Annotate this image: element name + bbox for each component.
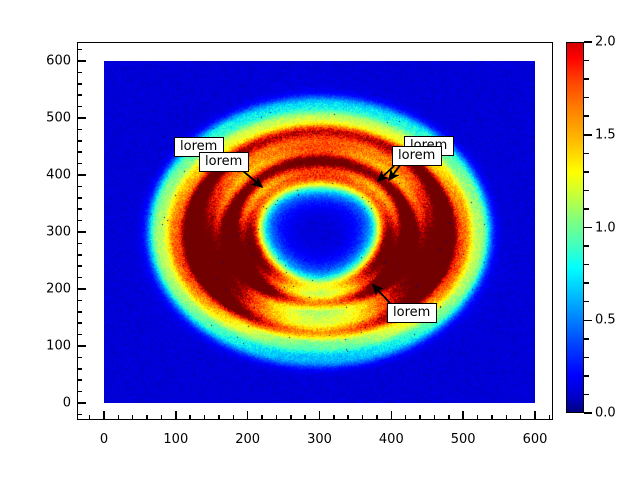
x-tick-major [462, 411, 464, 420]
colorbar-gradient [566, 42, 584, 413]
colorbar-tick-minor [584, 282, 589, 284]
x-tick-major [534, 411, 536, 420]
x-tick-minor [405, 415, 407, 420]
y-tick-minor [77, 311, 82, 313]
colorbar-tick-major [584, 134, 592, 136]
colorbar [566, 42, 584, 413]
colorbar-tick-minor [584, 338, 589, 340]
x-tick-label: 0 [100, 432, 108, 447]
y-tick-minor [77, 379, 82, 381]
colorbar-tick-minor [584, 375, 589, 377]
x-tick-minor [89, 415, 91, 420]
colorbar-tick-minor [584, 153, 589, 155]
annotation-label-anno-right-front[interactable]: lorem [392, 146, 442, 166]
y-tick-minor [77, 140, 82, 142]
x-tick-minor [506, 415, 508, 420]
x-tick-minor [333, 415, 335, 420]
x-tick-label: 600 [523, 432, 548, 447]
colorbar-tick-minor [584, 190, 589, 192]
y-tick-major [77, 60, 86, 62]
colorbar-tick-minor [584, 394, 589, 396]
colorbar-tick-minor [584, 301, 589, 303]
colorbar-tick-label: 0.5 [595, 313, 616, 328]
x-tick-minor [233, 415, 235, 420]
y-tick-minor [77, 300, 82, 302]
colorbar-tick-minor [584, 60, 589, 62]
x-tick-minor [549, 415, 551, 420]
x-tick-minor [347, 415, 349, 420]
x-tick-minor [477, 415, 479, 420]
colorbar-tick-label: 2.0 [595, 35, 616, 50]
y-tick-minor [77, 49, 82, 51]
y-tick-minor [77, 322, 82, 324]
figure-canvas: 01002003004005006000100200300400500600 0… [0, 0, 640, 480]
x-tick-minor [261, 415, 263, 420]
y-tick-minor [77, 129, 82, 131]
colorbar-tick-minor [584, 208, 589, 210]
y-tick-minor [77, 265, 82, 267]
x-tick-minor [376, 415, 378, 420]
x-tick-label: 200 [235, 432, 260, 447]
x-tick-minor [362, 415, 364, 420]
y-tick-minor [77, 83, 82, 85]
colorbar-tick-minor [584, 264, 589, 266]
y-tick-label: 500 [39, 111, 71, 126]
colorbar-tick-minor [584, 78, 589, 80]
y-tick-major [77, 402, 86, 404]
x-tick-label: 300 [307, 432, 332, 447]
colorbar-tick-label: 0.0 [595, 406, 616, 421]
x-tick-minor [434, 415, 436, 420]
x-tick-major [391, 411, 393, 420]
y-tick-minor [77, 243, 82, 245]
heatmap-canvas [104, 61, 535, 403]
colorbar-tick-label: 1.5 [595, 127, 616, 142]
x-tick-minor [132, 415, 134, 420]
x-tick-label: 100 [163, 432, 188, 447]
x-tick-minor [419, 415, 421, 420]
x-tick-minor [189, 415, 191, 420]
y-tick-minor [77, 391, 82, 393]
colorbar-tick-major [584, 412, 592, 414]
x-tick-major [103, 411, 105, 420]
y-tick-label: 0 [39, 396, 71, 411]
y-tick-minor [77, 277, 82, 279]
x-tick-minor [218, 415, 220, 420]
x-tick-minor [146, 415, 148, 420]
x-tick-minor [204, 415, 206, 420]
x-tick-major [247, 411, 249, 420]
x-tick-minor [276, 415, 278, 420]
x-tick-minor [491, 415, 493, 420]
heatmap-image [104, 61, 535, 403]
x-tick-label: 500 [451, 432, 476, 447]
y-tick-minor [77, 163, 82, 165]
y-tick-minor [77, 151, 82, 153]
y-tick-major [77, 174, 86, 176]
y-tick-minor [77, 106, 82, 108]
y-tick-major [77, 117, 86, 119]
y-tick-major [77, 345, 86, 347]
x-tick-minor [118, 415, 120, 420]
colorbar-tick-minor [584, 171, 589, 173]
y-tick-major [77, 231, 86, 233]
colorbar-tick-minor [584, 357, 589, 359]
colorbar-tick-label: 1.0 [595, 220, 616, 235]
x-tick-major [319, 411, 321, 420]
annotation-label-anno-bottom[interactable]: lorem [387, 303, 437, 323]
y-tick-minor [77, 94, 82, 96]
y-tick-minor [77, 254, 82, 256]
colorbar-tick-major [584, 41, 592, 43]
y-tick-minor [77, 208, 82, 210]
x-tick-label: 400 [379, 432, 404, 447]
colorbar-tick-major [584, 320, 592, 322]
y-tick-minor [77, 368, 82, 370]
colorbar-tick-minor [584, 245, 589, 247]
colorbar-tick-minor [584, 97, 589, 99]
y-tick-minor [77, 186, 82, 188]
x-tick-minor [448, 415, 450, 420]
y-tick-label: 200 [39, 282, 71, 297]
x-tick-minor [290, 415, 292, 420]
x-tick-minor [304, 415, 306, 420]
y-tick-minor [77, 72, 82, 74]
y-tick-minor [77, 414, 82, 416]
y-tick-label: 400 [39, 168, 71, 183]
x-tick-major [175, 411, 177, 420]
y-tick-minor [77, 357, 82, 359]
y-tick-minor [77, 197, 82, 199]
colorbar-tick-major [584, 227, 592, 229]
y-tick-minor [77, 220, 82, 222]
colorbar-tick-minor [584, 115, 589, 117]
y-tick-label: 300 [39, 225, 71, 240]
y-tick-major [77, 288, 86, 290]
y-tick-label: 600 [39, 54, 71, 69]
y-tick-label: 100 [39, 339, 71, 354]
x-tick-minor [520, 415, 522, 420]
y-tick-minor [77, 334, 82, 336]
x-tick-minor [161, 415, 163, 420]
annotation-label-anno-left-front[interactable]: lorem [199, 152, 249, 172]
